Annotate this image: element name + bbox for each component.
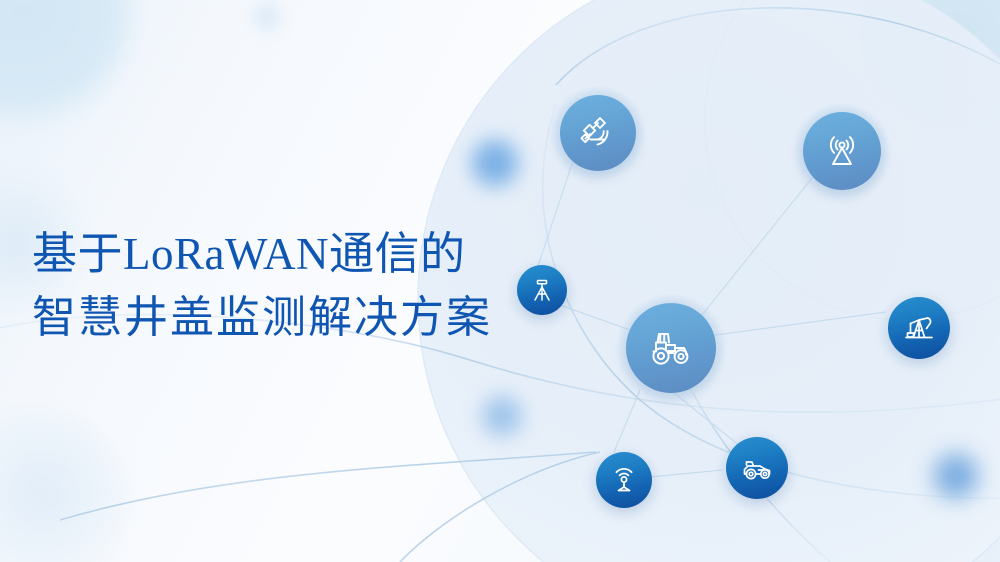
work-vehicle-icon (738, 449, 776, 487)
title-line-2: 智慧井盖监测解决方案 (32, 292, 572, 343)
radio-tower-icon (819, 128, 865, 174)
oil-pumpjack-icon (900, 309, 938, 347)
title-line-1: 基于LoRaWAN通信的 (32, 228, 572, 280)
node-tractor[interactable] (626, 303, 716, 393)
signal-beacon-icon (607, 463, 641, 497)
node-work-vehicle[interactable] (726, 437, 788, 499)
title-slide: 基于LoRaWAN通信的 智慧井盖监测解决方案 (0, 0, 1000, 562)
node-signal-beacon[interactable] (596, 452, 652, 508)
node-radio-tower[interactable] (803, 112, 881, 190)
satellite-dish-icon (576, 111, 620, 155)
node-oil-pumpjack[interactable] (888, 297, 950, 359)
tractor-icon (644, 321, 698, 375)
page-title: 基于LoRaWAN通信的 智慧井盖监测解决方案 (32, 228, 572, 343)
node-satellite[interactable] (560, 95, 636, 171)
